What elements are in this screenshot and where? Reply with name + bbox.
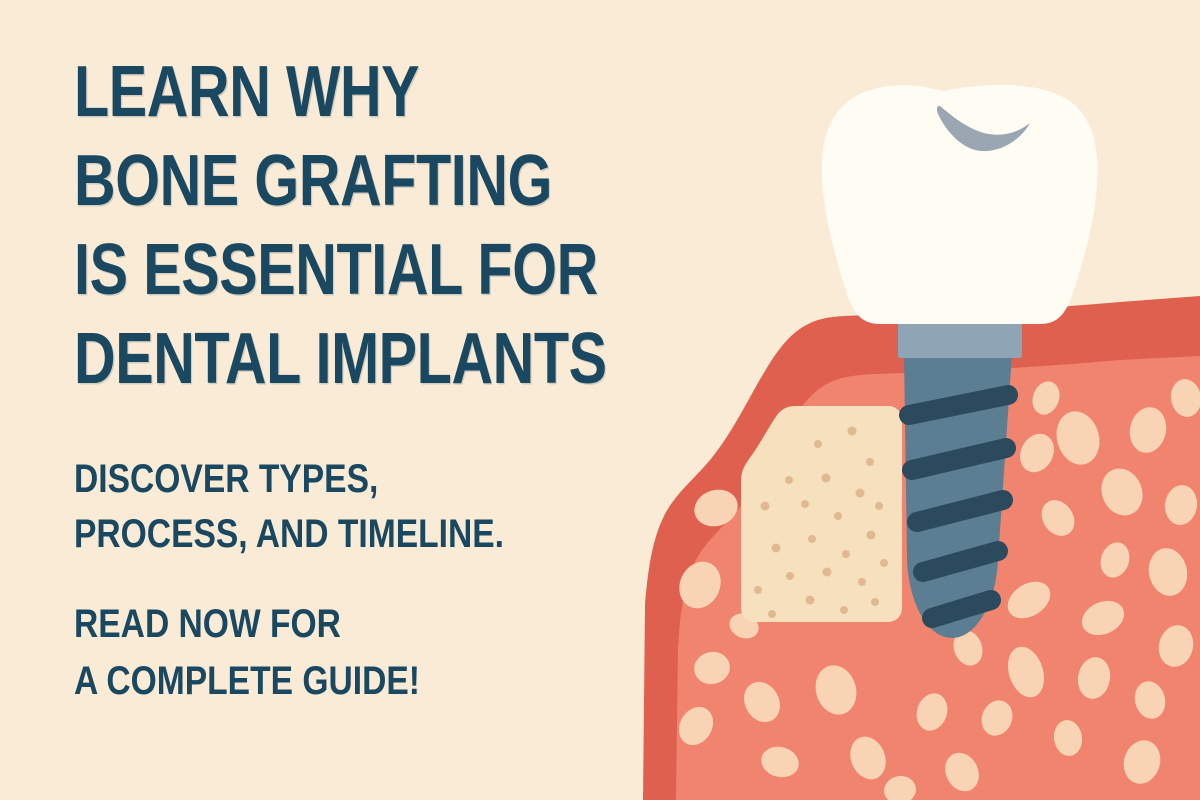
page-title: LEARN WHY BONE GRAFTING IS ESSENTIAL FOR…	[74, 48, 774, 404]
headline-line-4: DENTAL IMPLANTS	[74, 315, 634, 404]
subdeck-line-1: DISCOVER TYPES,	[74, 452, 662, 507]
tooth-crown-group	[822, 85, 1098, 324]
cta-line-1: READ NOW FOR	[74, 596, 662, 653]
headline-line-3: IS ESSENTIAL FOR	[74, 226, 634, 315]
headline-line-2: BONE GRAFTING	[74, 137, 634, 226]
subdeck-line-2: PROCESS, AND TIMELINE.	[74, 507, 662, 562]
headline-line-1: LEARN WHY	[74, 48, 634, 137]
cta-text: READ NOW FOR A COMPLETE GUIDE!	[74, 596, 774, 710]
tooth-crown	[822, 85, 1098, 324]
subdeck: DISCOVER TYPES, PROCESS, AND TIMELINE.	[74, 452, 774, 562]
copy-column: LEARN WHY BONE GRAFTING IS ESSENTIAL FOR…	[0, 0, 780, 800]
poster-canvas: LEARN WHY BONE GRAFTING IS ESSENTIAL FOR…	[0, 0, 1200, 800]
cta-line-2: A COMPLETE GUIDE!	[74, 653, 662, 710]
